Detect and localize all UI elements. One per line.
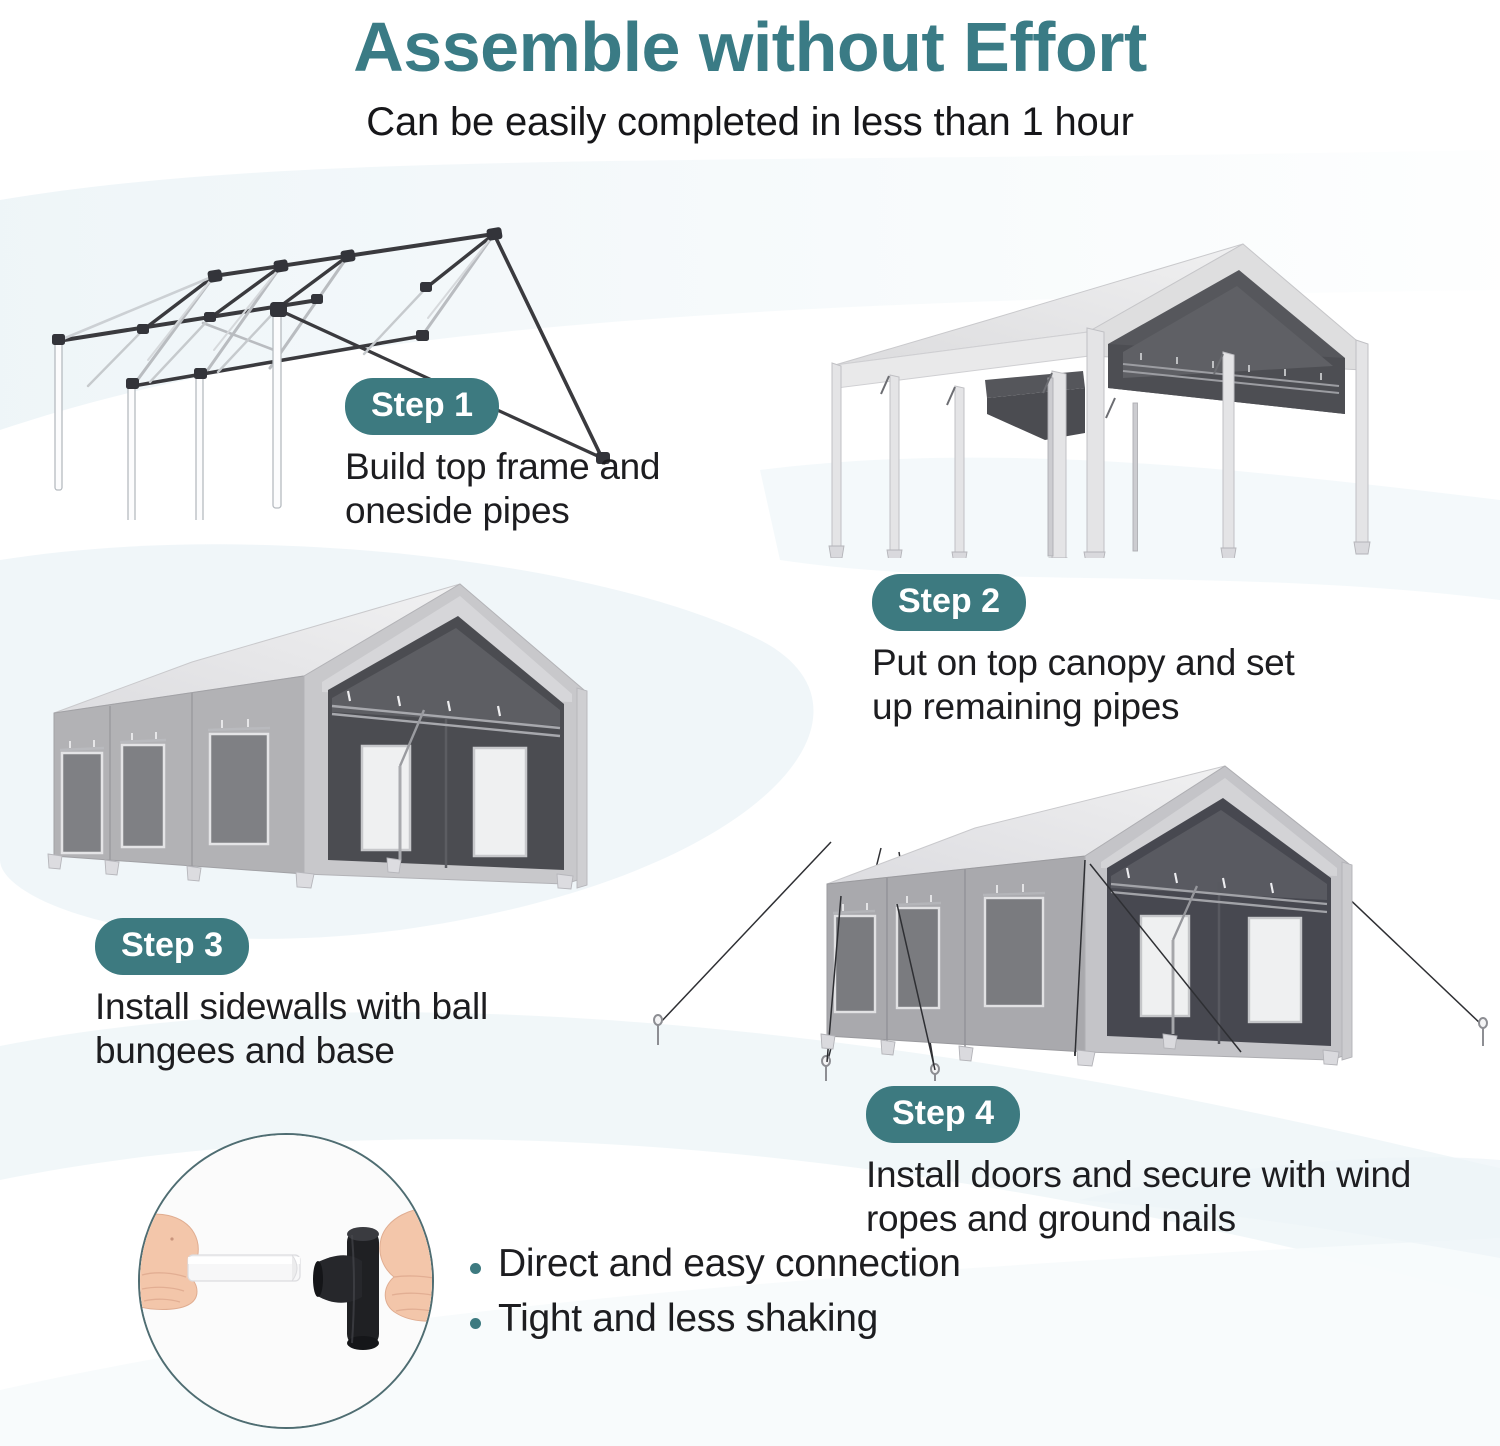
step-2-description: Put on top canopy and set up remaining p… bbox=[872, 641, 1294, 728]
bullet-dot-icon bbox=[470, 1263, 481, 1274]
page-title: Assemble without Effort bbox=[0, 8, 1500, 82]
step-3-block: Step 3 Install sidewalls with ball bunge… bbox=[95, 918, 488, 1072]
bullet-dot-icon bbox=[470, 1318, 481, 1329]
step-4-description: Install doors and secure with wind ropes… bbox=[866, 1153, 1411, 1240]
step-2-badge: Step 2 bbox=[872, 574, 1026, 631]
tent-with-sidewalls-illustration bbox=[32, 578, 652, 923]
step-4-badge: Step 4 bbox=[866, 1086, 1020, 1143]
step-2-block: Step 2 Put on top canopy and set up rema… bbox=[872, 574, 1294, 728]
feature-label: Direct and easy connection bbox=[498, 1243, 961, 1286]
infographic-canvas: Assemble without Effort Can be easily co… bbox=[0, 0, 1500, 1446]
feature-label: Tight and less shaking bbox=[498, 1298, 878, 1341]
step-1-description: Build top frame and oneside pipes bbox=[345, 445, 660, 532]
tent-with-doors-and-wind-ropes-illustration bbox=[645, 756, 1500, 1081]
tent-with-top-canopy-illustration bbox=[805, 228, 1405, 558]
step-3-badge: Step 3 bbox=[95, 918, 249, 975]
header: Assemble without Effort Can be easily co… bbox=[0, 0, 1500, 145]
step-1-block: Step 1 Build top frame and oneside pipes bbox=[345, 378, 660, 532]
step-4-block: Step 4 Install doors and secure with win… bbox=[866, 1086, 1411, 1240]
hand-holding-black-t-connector bbox=[380, 1208, 432, 1321]
step-3-description: Install sidewalls with ball bungees and … bbox=[95, 985, 488, 1072]
feature-list: Direct and easy connection Tight and les… bbox=[470, 1243, 961, 1353]
closeup-illustration bbox=[140, 1135, 432, 1427]
list-item: Direct and easy connection bbox=[470, 1243, 961, 1286]
list-item: Tight and less shaking bbox=[470, 1298, 961, 1341]
step-1-badge: Step 1 bbox=[345, 378, 499, 435]
white-pipe bbox=[188, 1255, 300, 1281]
page-subtitle: Can be easily completed in less than 1 h… bbox=[0, 100, 1500, 145]
pipe-and-connector-closeup bbox=[138, 1133, 434, 1429]
